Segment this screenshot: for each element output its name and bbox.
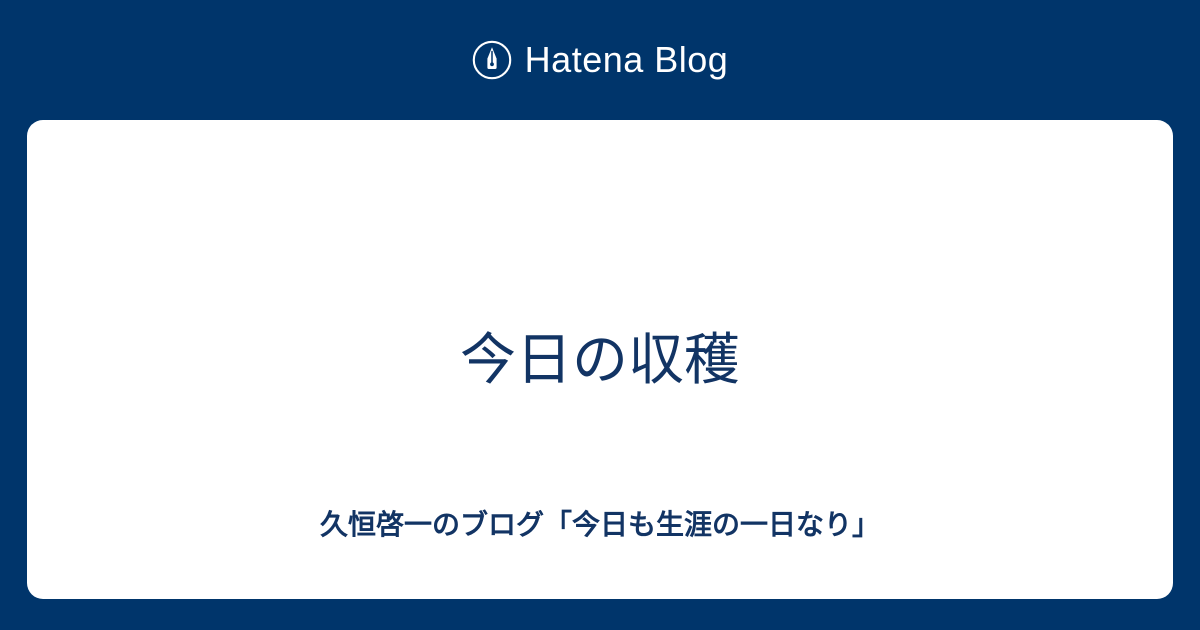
- service-name: Hatena Blog: [525, 42, 729, 78]
- hatena-pen-nib-icon: [472, 40, 512, 80]
- entry-title: 今日の収穫: [460, 325, 740, 395]
- blog-name: 久恒啓一のブログ「今日も生涯の一日なり」: [27, 507, 1173, 543]
- brand-header: Hatena Blog: [0, 0, 1200, 120]
- entry-card: 今日の収穫 久恒啓一のブログ「今日も生涯の一日なり」: [27, 120, 1173, 599]
